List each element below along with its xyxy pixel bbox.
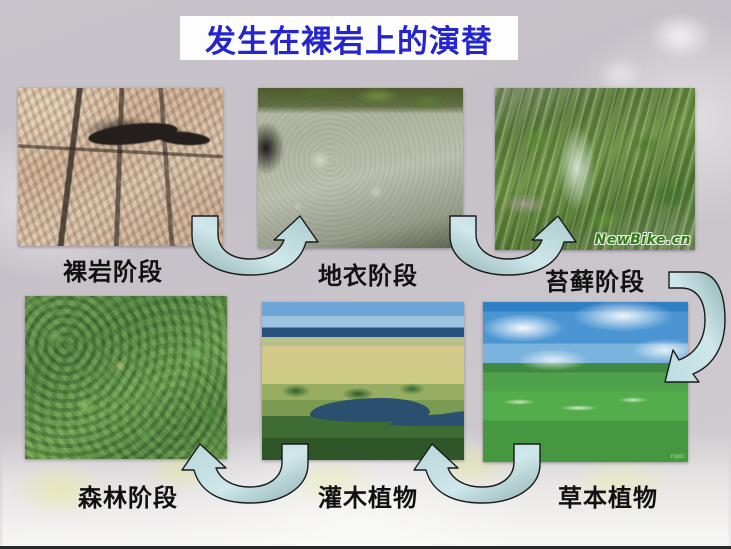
page-title: 发生在裸岩上的演替 [205, 16, 493, 61]
arrow-moss-to-herb [651, 268, 731, 386]
arrow-rock-to-lichen [188, 212, 320, 286]
caption-lichen: 地衣阶段 [318, 256, 418, 291]
photo-shrubland [262, 302, 464, 460]
arrow-herb-to-shrub [412, 440, 544, 514]
grass-photo-streams [493, 394, 673, 416]
lichen-photo-moss-band [258, 88, 463, 114]
newbike-watermark: NewBike.cn [594, 232, 691, 248]
photo-forest [25, 296, 227, 459]
caption-herb: 草本植物 [558, 478, 658, 513]
caption-shrub: 灌木植物 [318, 478, 418, 513]
arrow-shrub-to-forest [180, 440, 312, 514]
title-banner: 发生在裸岩上的演替 [180, 16, 518, 60]
rock-crevice [158, 130, 211, 147]
lichen-photo-shadow [258, 118, 292, 180]
grass-photo-watermark: nipic [671, 453, 685, 460]
caption-bare-rock: 裸岩阶段 [63, 252, 163, 287]
slide-canvas: 发生在裸岩上的演替 NewBike.cn 裸岩阶段 地衣阶段 苔藓阶段 nipi… [0, 0, 731, 549]
caption-forest: 森林阶段 [78, 478, 178, 513]
arrow-lichen-to-moss [446, 212, 578, 286]
